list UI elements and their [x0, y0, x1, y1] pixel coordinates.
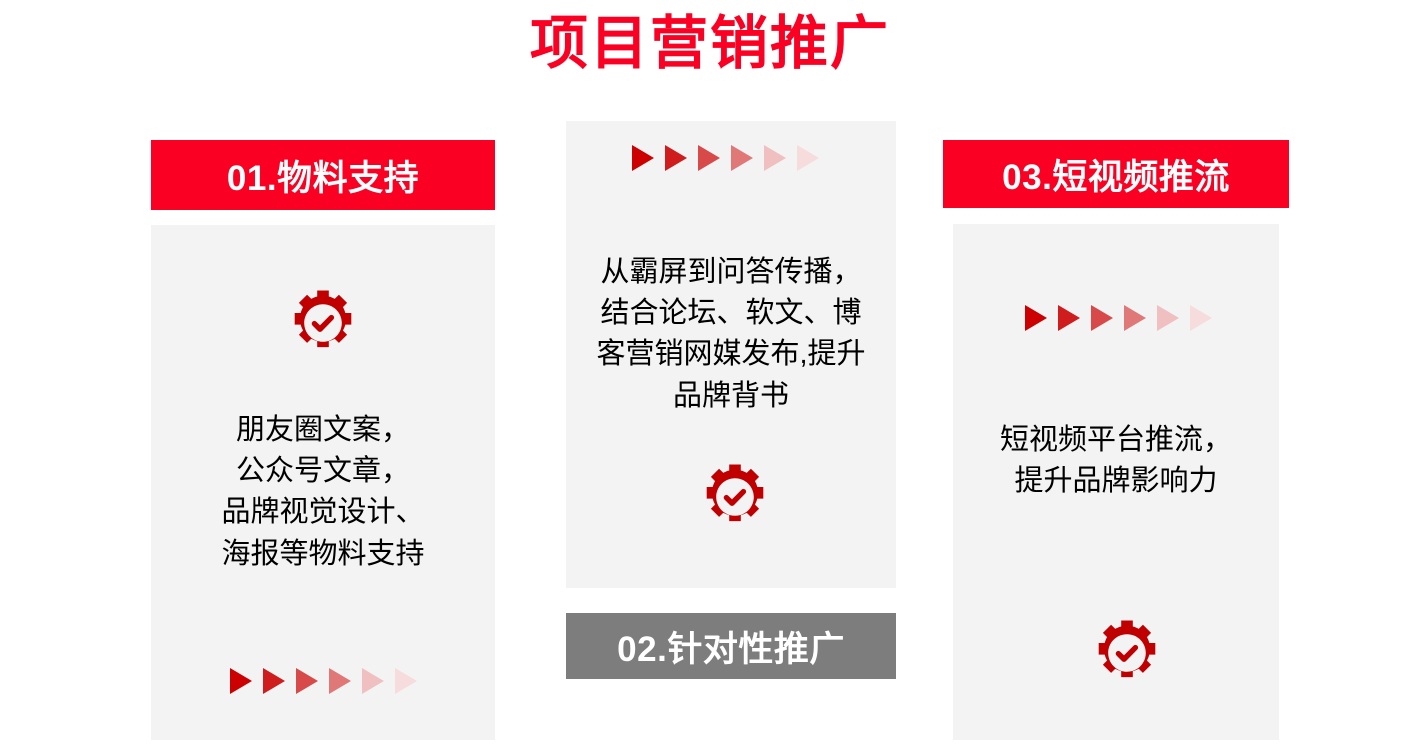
gear-check-icon — [700, 462, 770, 532]
column-1-arrow-strip — [230, 668, 417, 694]
triangle-right-icon — [797, 145, 819, 171]
column-3-header-band[interactable]: 03.短视频推流 — [943, 140, 1289, 208]
triangle-right-icon — [296, 668, 318, 694]
triangle-right-icon — [362, 668, 384, 694]
page-title: 项目营销推广 — [0, 14, 1420, 75]
column-1-header-band[interactable]: 01.物料支持 — [151, 140, 495, 210]
triangle-right-icon — [329, 668, 351, 694]
column-3-header-label: 03.短视频推流 — [1002, 149, 1230, 200]
column-1-body-text: 朋友圈文案， 公众号文章， 品牌视觉设计、 海报等物料支持 — [151, 410, 495, 575]
column-3-body-text: 短视频平台推流， 提升品牌影响力 — [953, 420, 1279, 502]
triangle-right-icon — [1058, 305, 1080, 331]
triangle-right-icon — [632, 145, 654, 171]
column-3-arrow-strip — [1025, 305, 1212, 331]
triangle-right-icon — [1091, 305, 1113, 331]
column-2-body-text: 从霸屏到问答传播， 结合论坛、软文、博 客营销网媒发布,提升 品牌背书 — [566, 252, 896, 417]
triangle-right-icon — [1124, 305, 1146, 331]
triangle-right-icon — [1025, 305, 1047, 331]
triangle-right-icon — [263, 668, 285, 694]
column-1-header-label: 01.物料支持 — [227, 150, 419, 201]
slide-canvas: 项目营销推广 01.物料支持 朋友圈文案， 公众号文章， 品牌视觉设计、 海报等… — [0, 0, 1420, 751]
gear-check-icon — [1092, 618, 1162, 688]
gear-check-icon — [288, 288, 358, 358]
triangle-right-icon — [731, 145, 753, 171]
triangle-right-icon — [1157, 305, 1179, 331]
triangle-right-icon — [764, 145, 786, 171]
triangle-right-icon — [395, 668, 417, 694]
column-2-arrow-strip — [632, 145, 819, 171]
triangle-right-icon — [230, 668, 252, 694]
column-2-header-band[interactable]: 02.针对性推广 — [566, 613, 896, 679]
column-2-header-label: 02.针对性推广 — [617, 621, 845, 672]
triangle-right-icon — [1190, 305, 1212, 331]
triangle-right-icon — [665, 145, 687, 171]
triangle-right-icon — [698, 145, 720, 171]
